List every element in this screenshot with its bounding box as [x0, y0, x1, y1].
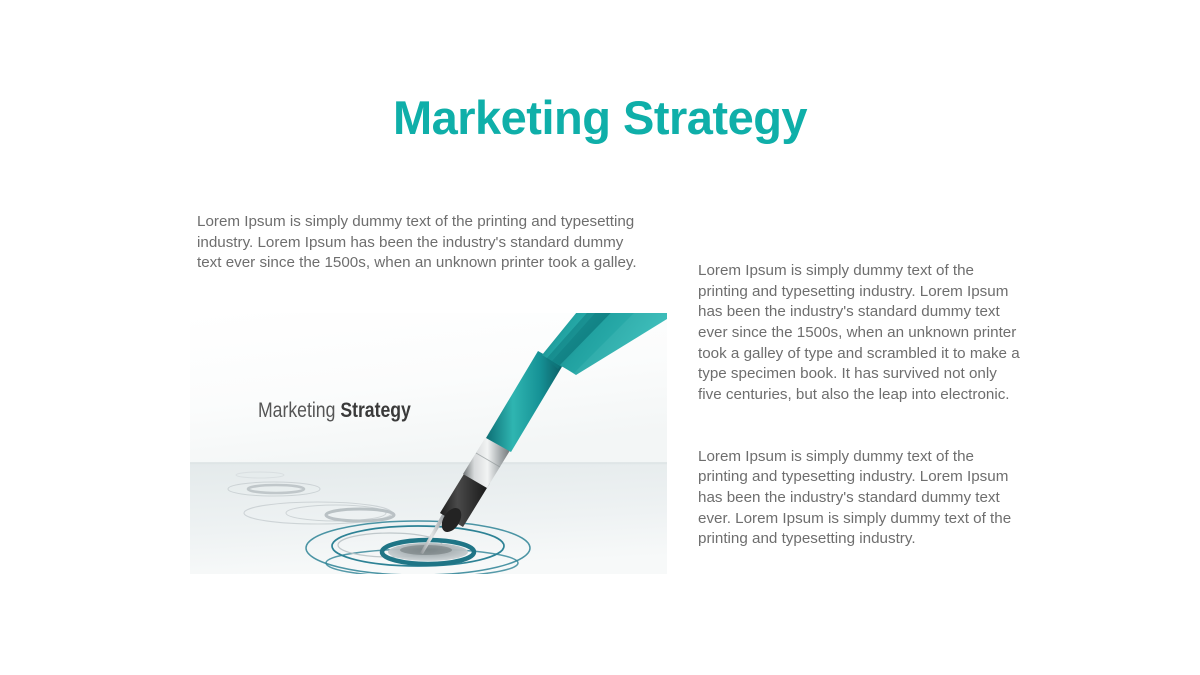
- dart-bullseye-illustration: Marketing Strategy: [190, 313, 667, 574]
- page-title: Marketing Strategy: [0, 92, 1200, 144]
- presentation-slide: Marketing Strategy Lorem Ipsum is simply…: [0, 0, 1200, 675]
- right-column-paragraph-2: Lorem Ipsum is simply dummy text of the …: [698, 447, 1024, 550]
- right-column-paragraph-1: Lorem Ipsum is simply dummy text of the …: [698, 261, 1024, 406]
- illustration-artwork: [190, 313, 667, 574]
- right-column: Lorem Ipsum is simply dummy text of the …: [698, 261, 1024, 550]
- left-column-paragraph: Lorem Ipsum is simply dummy text of the …: [197, 212, 649, 274]
